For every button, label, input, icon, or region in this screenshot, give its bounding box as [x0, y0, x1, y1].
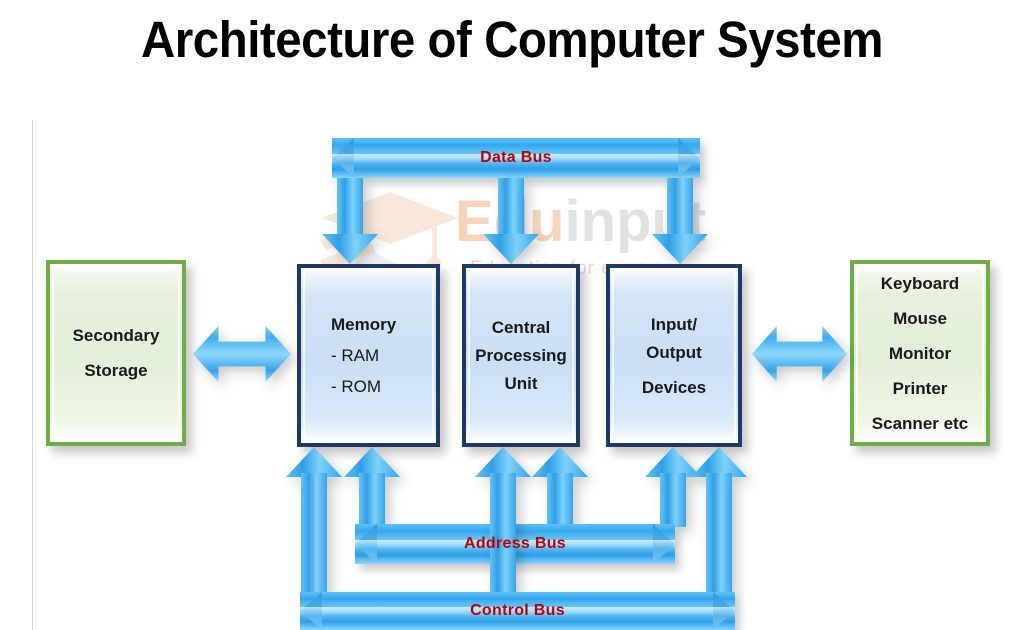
- io-box[interactable]: Input/ Output Devices: [606, 264, 742, 447]
- arrow-body: [193, 326, 291, 382]
- diagram-canvas: Architecture of Computer System Eduinput…: [0, 0, 1024, 630]
- address-bus-arrow-from-cpu: [532, 447, 588, 527]
- control-bus-bar: Control Bus: [300, 592, 735, 630]
- io-line-1: Input/: [651, 316, 697, 333]
- secondary-storage-box[interactable]: Secondary Storage: [46, 260, 186, 446]
- arrow-shaft: [498, 178, 524, 238]
- memory-item-ram: - RAM: [331, 347, 379, 364]
- arrow-shaft: [490, 473, 516, 595]
- arrow-shaft: [359, 473, 385, 527]
- address-bus-label: Address Bus: [355, 535, 675, 553]
- arrow-shaft: [547, 473, 573, 527]
- arrow-body: [752, 326, 847, 382]
- control-bus-arrow-from-memory: [286, 447, 342, 595]
- bidirectional-arrow-icon-left: [193, 326, 291, 382]
- arrow-shaft: [667, 178, 693, 238]
- data-bus-label: Data Bus: [332, 149, 700, 167]
- control-bus-arrow-from-cpu: [475, 447, 531, 595]
- data-bus-arrow-to-io: [652, 178, 708, 264]
- arrow-shaft: [301, 473, 327, 595]
- arrow-shaft: [706, 473, 732, 595]
- peripheral-keyboard: Keyboard: [881, 275, 959, 292]
- memory-heading: Memory: [331, 316, 396, 333]
- arrow-shaft: [660, 473, 686, 527]
- peripheral-scanner: Scanner etc: [872, 415, 968, 432]
- page-title: Architecture of Computer System: [36, 10, 988, 69]
- control-bus-arrow-from-io: [691, 447, 747, 595]
- peripheral-monitor: Monitor: [889, 345, 951, 362]
- arrow-head-down-icon: [483, 234, 539, 264]
- left-margin-rule: [32, 120, 33, 630]
- arrow-head-down-icon: [322, 234, 378, 264]
- memory-item-rom: - ROM: [331, 378, 381, 395]
- peripherals-box[interactable]: Keyboard Mouse Monitor Printer Scanner e…: [850, 260, 990, 446]
- cpu-line-3: Unit: [504, 375, 537, 392]
- secondary-storage-line-1: Secondary: [73, 327, 160, 344]
- peripheral-printer: Printer: [893, 380, 948, 397]
- io-line-2: Output: [646, 344, 702, 361]
- peripheral-mouse: Mouse: [893, 310, 947, 327]
- data-bus-arrow-to-cpu: [483, 178, 539, 264]
- secondary-storage-line-2: Storage: [84, 362, 147, 379]
- arrow-shaft: [337, 178, 363, 238]
- cpu-line-2: Processing: [475, 347, 567, 364]
- cpu-box[interactable]: Central Processing Unit: [462, 264, 580, 447]
- control-bus-label: Control Bus: [300, 602, 735, 620]
- arrow-head-down-icon: [652, 234, 708, 264]
- data-bus-bar: Data Bus: [332, 138, 700, 178]
- io-line-3: Devices: [642, 379, 706, 396]
- memory-box[interactable]: Memory - RAM - ROM: [297, 264, 440, 447]
- bidirectional-arrow-icon-right: [752, 326, 847, 382]
- data-bus-arrow-to-memory: [322, 178, 378, 264]
- address-bus-arrow-from-memory: [344, 447, 400, 527]
- cpu-line-1: Central: [492, 319, 551, 336]
